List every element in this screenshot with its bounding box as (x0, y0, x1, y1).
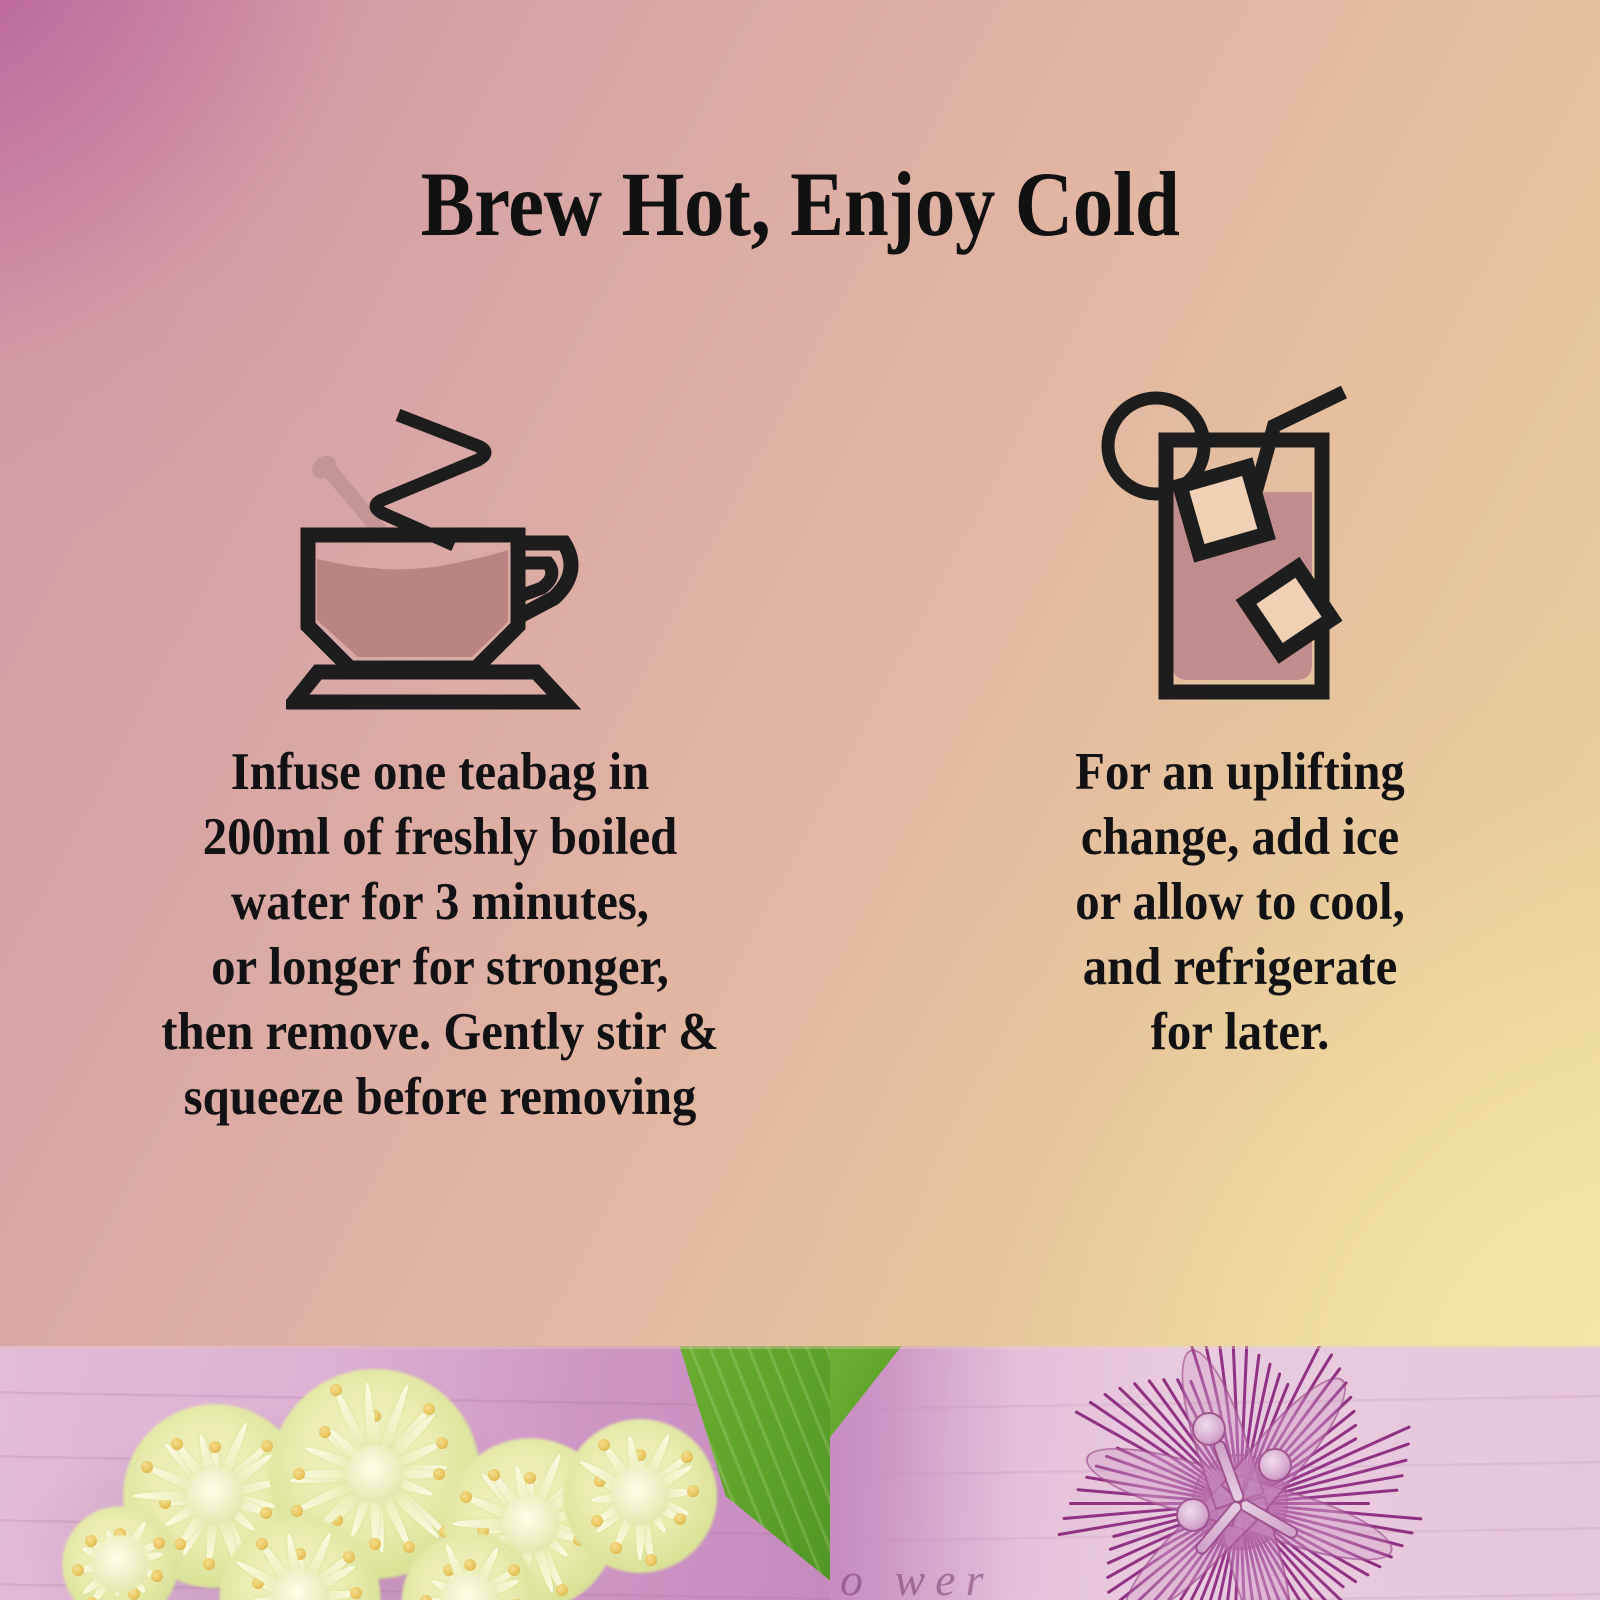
saucer-icon (294, 672, 564, 702)
linden-flowers-photo (0, 1346, 870, 1600)
iced-drink-glass-icon (1094, 380, 1394, 710)
passionflower-engraving (940, 1352, 1540, 1600)
instruction-line: and refrigerate (990, 935, 1490, 1000)
flower-stigma (1258, 1448, 1292, 1482)
infographic-canvas: Brew Hot, Enjoy Cold (0, 0, 1600, 1600)
instruction-line: or allow to cool, (990, 870, 1490, 935)
instruction-line: change, add ice (990, 805, 1490, 870)
page-title: Brew Hot, Enjoy Cold (96, 158, 1504, 250)
instruction-line: or longer for stronger, (101, 935, 778, 1000)
instruction-line: Infuse one teabag in (101, 740, 778, 805)
flower-stigma (1192, 1412, 1226, 1446)
instruction-line: For an uplifting (990, 740, 1490, 805)
instruction-columns: Infuse one teabag in 200ml of freshly bo… (0, 380, 1600, 1130)
instruction-line: water for 3 minutes, (101, 870, 778, 935)
teacup-with-steam-icon (286, 380, 616, 710)
teacup-icon-wrap (0, 380, 880, 720)
tea-liquid (317, 550, 508, 657)
instruction-line: 200ml of freshly boiled (101, 805, 778, 870)
passionflower-illustration: o wer (830, 1346, 1600, 1600)
column-enjoy-cold: For an uplifting change, add ice or allo… (880, 380, 1600, 1065)
brew-hot-instructions: Infuse one teabag in 200ml of freshly bo… (35, 740, 845, 1130)
iced-drink-icon-wrap (880, 380, 1600, 720)
ice-cube-icon (1180, 467, 1267, 554)
strip-top-seam (0, 1346, 1600, 1349)
instruction-line: squeeze before removing (101, 1065, 778, 1130)
steam-icon (376, 415, 485, 545)
flower-stigma (1176, 1498, 1210, 1532)
bottom-photo-strip: o wer (0, 1346, 1600, 1600)
column-brew-hot: Infuse one teabag in 200ml of freshly bo… (0, 380, 880, 1130)
instruction-line: then remove. Gently stir & (101, 1000, 778, 1065)
handwriting-script: o wer (840, 1553, 994, 1600)
instruction-line: for later. (990, 1000, 1490, 1065)
enjoy-cold-instructions: For an uplifting change, add ice or allo… (909, 740, 1571, 1065)
